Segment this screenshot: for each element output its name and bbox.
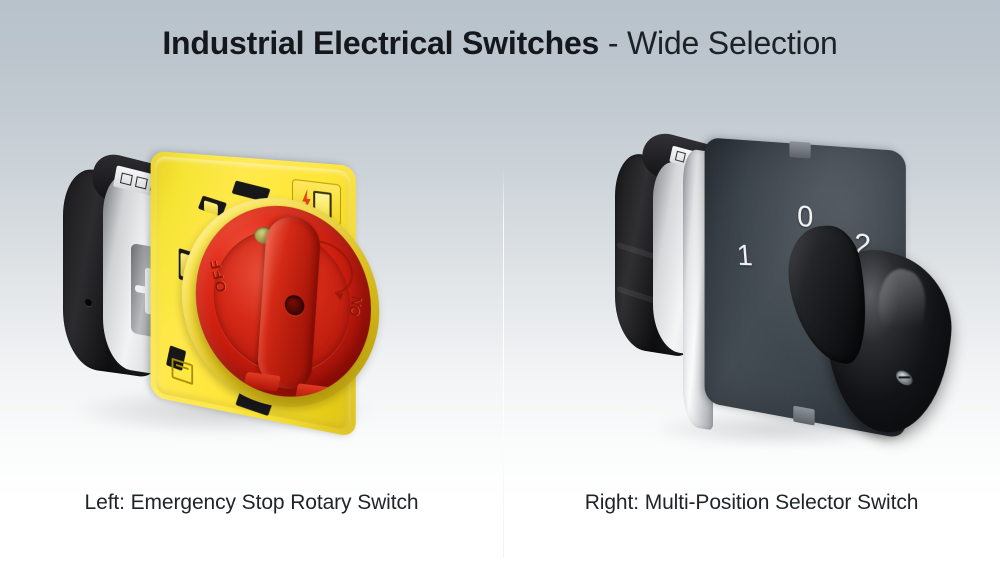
selector-knob-highlight [875,263,928,353]
left-rear-screw-hole [85,299,92,307]
label-mark-1 [120,172,133,185]
label-mark-1 [675,151,686,163]
knob-on-label: ON [345,294,364,318]
page-title-light: - Wide Selection [599,25,837,61]
right-dark-faceplate: 1 0 2 [705,137,906,439]
page-title: Industrial Electrical Switches - Wide Se… [0,26,1000,61]
caption-right-product: Right: Multi-Position Selector Switch [503,491,1000,515]
selector-knob-screw-icon [895,368,913,388]
caption-left-product: Left: Emergency Stop Rotary Switch [0,491,503,515]
label-mark-2 [135,176,148,189]
position-marker-1: 1 [736,239,754,273]
product-showcase-image: Industrial Electrical Switches - Wide Se… [0,0,1000,565]
faceplate-mounting-tab [789,141,810,159]
page-title-bold: Industrial Electrical Switches [162,25,599,61]
product-multi-position-selector-switch: 1 0 2 [615,140,915,445]
product-emergency-stop-rotary-switch: OFF ON [55,150,385,450]
